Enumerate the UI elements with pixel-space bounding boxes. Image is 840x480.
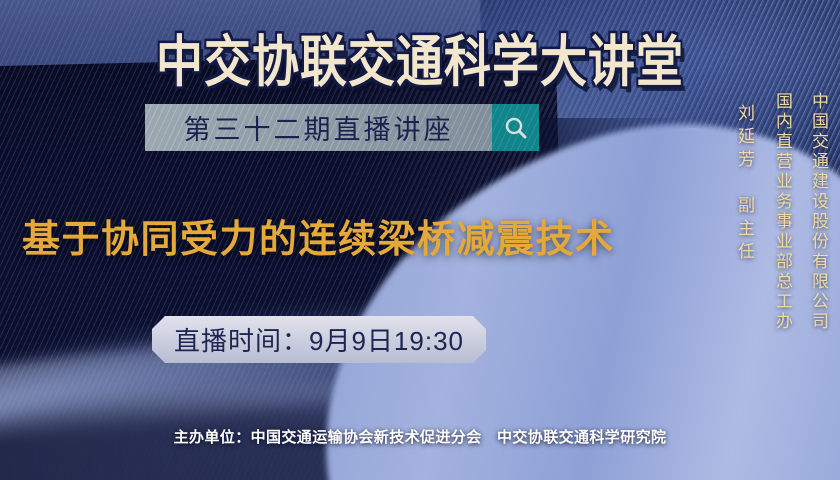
speaker-department: 国内直营业务事业部总工办 — [771, 92, 792, 332]
subtitle-bar: 第三十二期直播讲座 — [145, 104, 539, 151]
page-title: 中交协联交通科学大讲堂 — [0, 16, 840, 97]
speaker-name-title: 刘延芳 副主任 — [733, 104, 754, 265]
search-icon — [503, 115, 529, 141]
speaker-company: 中国交通建设股份有限公司 — [807, 92, 828, 332]
organizer-footer: 主办单位：中国交通运输协会新技术促进分会 中交协联交通科学研究院 — [0, 426, 840, 447]
search-button[interactable] — [492, 104, 539, 151]
broadcast-time-banner: 直播时间：9月9日19:30 — [152, 316, 486, 363]
lecture-topic-title: 基于协同受力的连续梁桥减震技术 — [22, 208, 615, 263]
live-lecture-poster: 中交协联交通科学大讲堂 第三十二期直播讲座 基于协同受力的连续梁桥减震技术 直播… — [0, 0, 840, 480]
broadcast-time-text: 直播时间：9月9日19:30 — [174, 321, 464, 358]
subtitle-text: 第三十二期直播讲座 — [184, 108, 454, 147]
subtitle-bar-fill: 第三十二期直播讲座 — [145, 104, 492, 151]
